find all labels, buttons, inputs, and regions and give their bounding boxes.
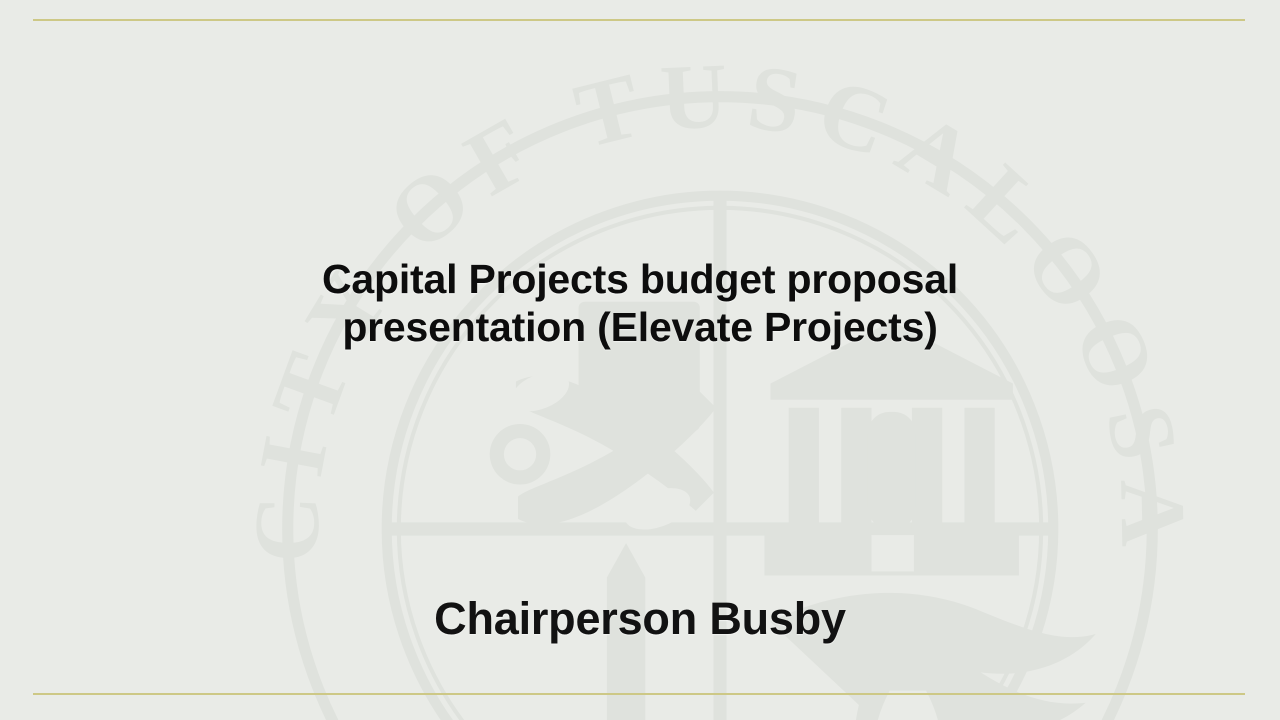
subtitle-block: Chairperson Busby [0, 592, 1280, 646]
presentation-slide: CITY OF TUSCALOOSA [0, 0, 1280, 720]
slide-title: Capital Projects budget proposal present… [0, 255, 1280, 351]
slide-subtitle-presenter: Chairperson Busby [0, 592, 1280, 646]
top-gold-rule [33, 19, 1245, 21]
courthouse-emblem [764, 321, 1019, 576]
title-block: Capital Projects budget proposal present… [0, 255, 1280, 351]
bottom-gold-rule [33, 693, 1245, 695]
